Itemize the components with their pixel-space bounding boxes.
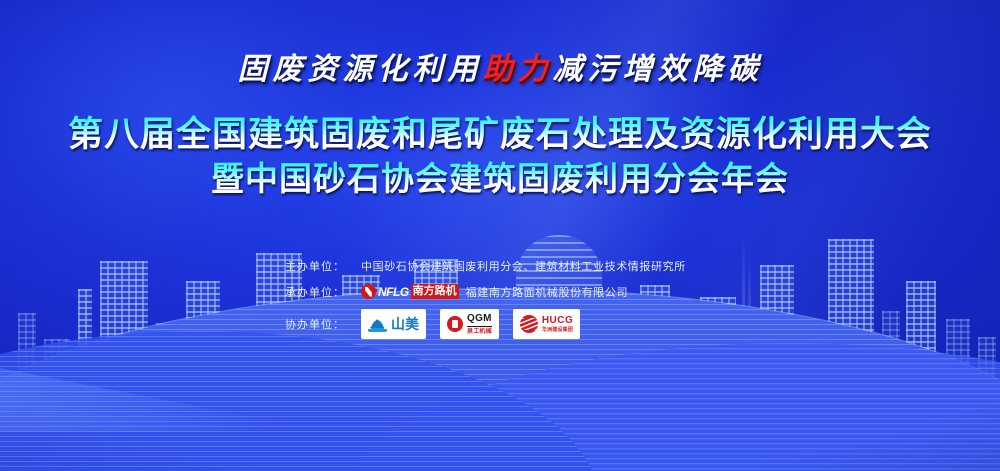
- hucg-en-text: HUCG: [542, 316, 573, 326]
- qgm-en-text: QGM: [467, 314, 492, 324]
- organizer-block: 主办单位： 中国砂石协会建筑固废利用分会、建筑材料工业技术情报研究所 承办单位：…: [0, 258, 1000, 339]
- sanme-cn-text: 山美: [391, 314, 419, 334]
- slogan-part2: 减污增效降碳: [553, 53, 763, 86]
- qgm-text-block: QGM 泉工机械: [467, 314, 492, 335]
- hucg-cn-text: 华洲建设集团: [542, 328, 573, 333]
- host-row: 主办单位： 中国砂石协会建筑固废利用分会、建筑材料工业技术情报研究所: [285, 258, 715, 274]
- nflg-en-text: NFLG: [378, 285, 409, 299]
- mountain-icon: [368, 316, 387, 332]
- nflg-cn-text: 南方路机: [411, 284, 459, 299]
- hucg-text-block: HUCG 华洲建设集团: [542, 316, 573, 333]
- page-title: 第八届全国建筑固废和尾矿废石处理及资源化利用大会: [0, 106, 1000, 157]
- undertaker-text: 福建南方路面机械股份有限公司: [466, 284, 628, 300]
- nflg-n-mark-icon: [361, 284, 376, 299]
- cohost-row: 协办单位： 山美 QGM 泉工机械: [285, 309, 715, 339]
- qgm-logo: QGM 泉工机械: [440, 309, 499, 339]
- slogan-accent: 助力: [483, 53, 553, 86]
- cohost-logo-row: 山美 QGM 泉工机械 HUCG 华洲建设集团: [361, 309, 580, 339]
- slogan-part1: 固废资源化利用: [238, 53, 483, 86]
- q-circle-icon: [447, 316, 463, 332]
- sanme-logo: 山美: [361, 309, 426, 339]
- nflg-logo: NFLG 南方路机: [361, 283, 459, 300]
- hucg-logo: HUCG 华洲建设集团: [513, 309, 580, 339]
- banner-content: 固废资源化利用助力减污增效降碳 第八届全国建筑固废和尾矿废石处理及资源化利用大会…: [0, 0, 1000, 471]
- page-subtitle: 暨中国砂石协会建筑固废利用分会年会: [0, 152, 1000, 200]
- cohost-label: 协办单位：: [285, 316, 361, 332]
- slogan-calligraphy: 固废资源化利用助力减污增效降碳: [0, 44, 1000, 88]
- qgm-cn-text: 泉工机械: [467, 326, 492, 335]
- host-text: 中国砂石协会建筑固废利用分会、建筑材料工业技术情报研究所: [361, 258, 686, 274]
- host-label: 主办单位：: [285, 258, 361, 274]
- undertaker-row: 承办单位： NFLG 南方路机 福建南方路面机械股份有限公司: [285, 283, 715, 300]
- undertaker-label: 承办单位：: [285, 284, 361, 300]
- wave-circle-icon: [520, 315, 538, 333]
- conference-banner: 固废资源化利用助力减污增效降碳 第八届全国建筑固废和尾矿废石处理及资源化利用大会…: [0, 0, 1000, 471]
